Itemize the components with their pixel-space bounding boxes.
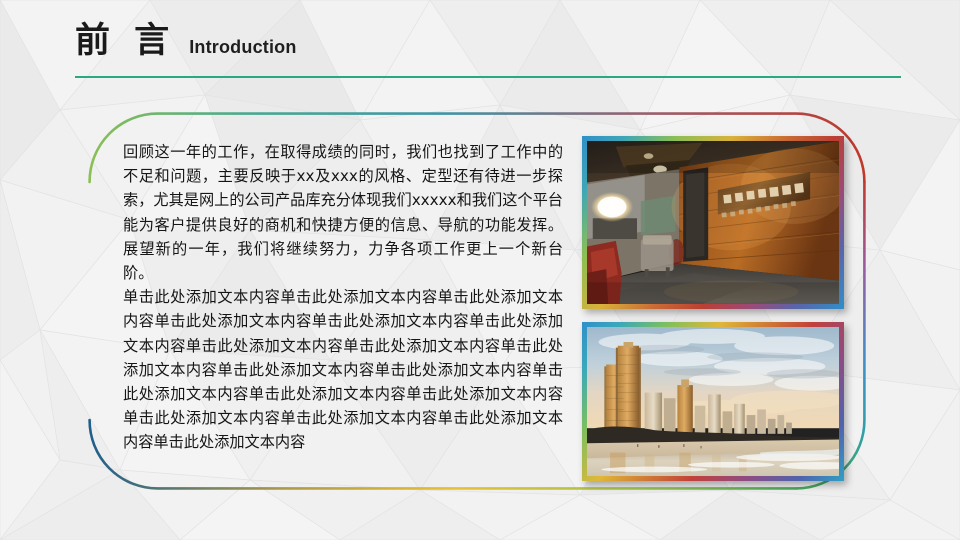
page-title-en: Introduction	[189, 38, 296, 59]
slide-root: 前 言 Introduction	[0, 0, 960, 540]
intro-paragraph: 回顾这一年的工作，在取得成绩的同时，我们也找到了工作中的不足和问题，主要反映于x…	[123, 140, 563, 285]
office-lobby-photo-image	[587, 141, 839, 304]
beach-skyline-photo-image	[587, 327, 839, 476]
page-title-cn: 前 言	[75, 24, 175, 59]
slide-header: 前 言 Introduction	[75, 24, 297, 59]
beach-skyline-photo[interactable]	[582, 322, 844, 481]
office-lobby-photo[interactable]	[582, 136, 844, 309]
body-text-column: 回顾这一年的工作，在取得成绩的同时，我们也找到了工作中的不足和问题，主要反映于x…	[123, 140, 563, 455]
header-divider-rule	[75, 76, 901, 78]
placeholder-paragraph: 单击此处添加文本内容单击此处添加文本内容单击此处添加文本内容单击此处添加文本内容…	[123, 285, 563, 454]
